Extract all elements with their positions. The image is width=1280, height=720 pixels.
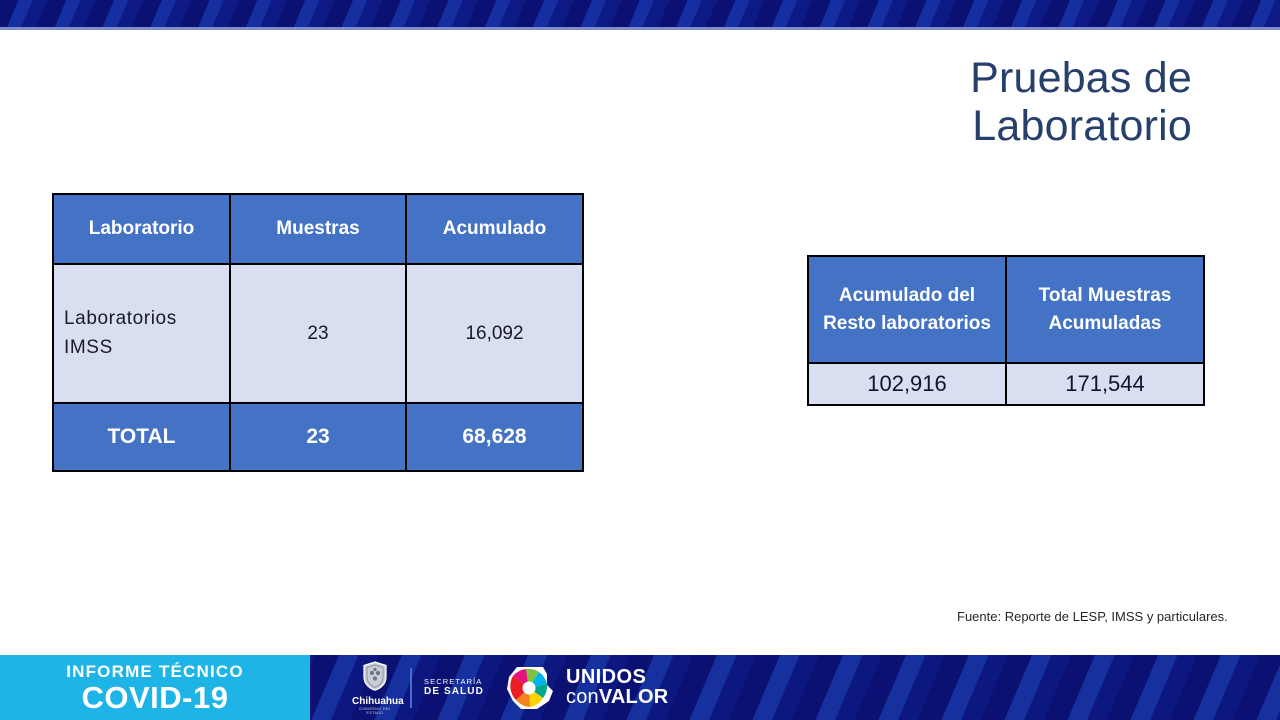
- badge-line-informe-tecnico: INFORME TÉCNICO: [0, 663, 310, 680]
- total-acumulado-value: 68,628: [406, 403, 583, 471]
- unidos-con: con: [566, 686, 599, 708]
- summary-value-row: 102,916 171,544: [808, 363, 1204, 405]
- cell-laboratorio-name: Laboratorios IMSS: [53, 264, 230, 403]
- top-decorative-stripe-bar: [0, 0, 1280, 27]
- column-header-muestras: Muestras: [230, 194, 406, 264]
- summary-table: Acumulado del Resto laboratorios Total M…: [807, 255, 1205, 406]
- shield-icon: [362, 661, 388, 691]
- table-row: Laboratorios IMSS 23 16,092: [53, 264, 583, 403]
- informe-tecnico-badge: INFORME TÉCNICO COVID-19: [0, 655, 310, 720]
- page-title: Pruebas de Laboratorio: [632, 54, 1192, 150]
- chihuahua-logo-subtitle: GOBIERNO DEL ESTADO: [352, 708, 398, 715]
- footer-bar: INFORME TÉCNICO COVID-19 Chihuahua GOBIE…: [0, 655, 1280, 720]
- chihuahua-government-logo: Chihuahua GOBIERNO DEL ESTADO SECRETARÍA…: [352, 661, 484, 715]
- table-total-row: TOTAL 23 68,628: [53, 403, 583, 471]
- cell-acumulado-value: 16,092: [406, 264, 583, 403]
- laboratory-table: Laboratorio Muestras Acumulado Laborator…: [52, 193, 584, 472]
- cell-muestras-value: 23: [230, 264, 406, 403]
- summary-header-total-muestras: Total Muestras Acumuladas: [1006, 256, 1204, 363]
- page-title-line-1: Pruebas de: [632, 54, 1192, 102]
- unidos-con-valor-logo: UNIDOS conVALOR: [500, 663, 668, 713]
- chihuahua-shield-logo: Chihuahua GOBIERNO DEL ESTADO: [352, 661, 398, 716]
- summary-value-resto-laboratorios: 102,916: [808, 363, 1006, 405]
- chihuahua-logo-name: Chihuahua: [352, 697, 398, 707]
- summary-header-row: Acumulado del Resto laboratorios Total M…: [808, 256, 1204, 363]
- chihuahua-map-icon: [500, 665, 558, 711]
- unidos-line-2: conVALOR: [566, 688, 668, 708]
- source-note: Fuente: Reporte de LESP, IMSS y particul…: [957, 609, 1228, 624]
- table-header-row: Laboratorio Muestras Acumulado: [53, 194, 583, 264]
- badge-line-covid19: COVID-19: [0, 682, 310, 713]
- summary-value-total-muestras: 171,544: [1006, 363, 1204, 405]
- summary-header-resto-laboratorios: Acumulado del Resto laboratorios: [808, 256, 1006, 363]
- page-title-line-2: Laboratorio: [632, 102, 1192, 150]
- secretaria-de-salud-label: SECRETARÍA DE SALUD: [424, 677, 484, 699]
- total-muestras-value: 23: [230, 403, 406, 471]
- top-bar-edge: [0, 27, 1280, 30]
- column-header-acumulado: Acumulado: [406, 194, 583, 264]
- column-header-laboratorio: Laboratorio: [53, 194, 230, 264]
- secretaria-line-1: SECRETARÍA: [424, 677, 484, 686]
- logo-divider: [410, 668, 412, 708]
- unidos-valor: VALOR: [599, 686, 669, 708]
- total-label: TOTAL: [53, 403, 230, 471]
- secretaria-line-2: DE SALUD: [424, 686, 484, 699]
- unidos-con-valor-text: UNIDOS conVALOR: [566, 668, 668, 707]
